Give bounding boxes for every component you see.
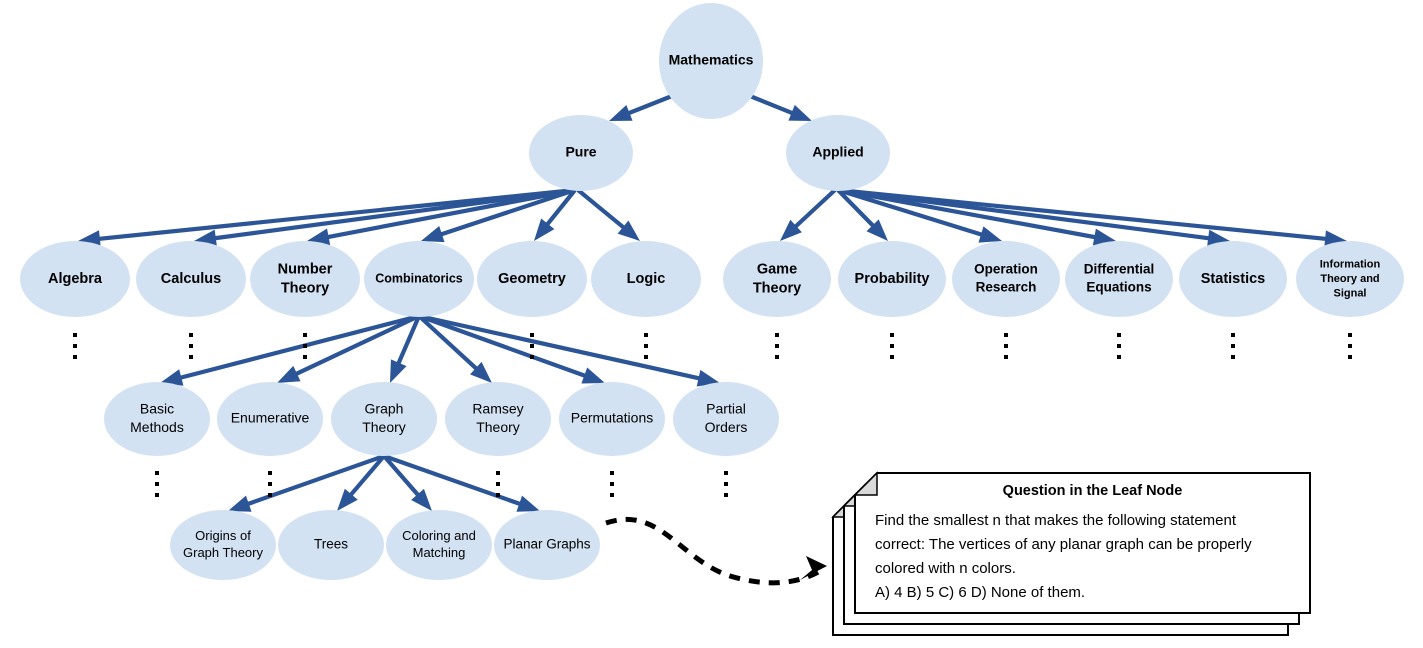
node-label: Game [757, 261, 797, 277]
ellipsis-dot [610, 471, 614, 475]
node-label: Coloring and [402, 528, 476, 543]
edge-arrowhead [978, 226, 1002, 242]
edge-arrowhead [421, 226, 445, 242]
node-statistics[interactable]: Statistics [1179, 241, 1287, 317]
node-label: Orders [705, 419, 748, 435]
ellipsis-marker-permutations [610, 471, 614, 497]
node-label: Origins of [195, 528, 251, 543]
page-fold-icon [855, 473, 877, 495]
node-partial-orders[interactable]: PartialOrders [673, 382, 779, 456]
edge-line [212, 190, 575, 239]
node-information-theory-and-signal[interactable]: InformationTheory andSignal [1296, 241, 1404, 317]
edge-arrowhead [581, 368, 605, 384]
node-label: Planar Graphs [503, 537, 590, 552]
node-trees[interactable]: Trees [278, 510, 384, 580]
node-graph-theory[interactable]: GraphTheory [331, 382, 437, 456]
node-coloring-and-matching[interactable]: Coloring andMatching [386, 510, 492, 580]
node-differential-equations[interactable]: DifferentialEquations [1065, 241, 1173, 317]
node-label: Statistics [1201, 271, 1265, 287]
node-label: Signal [1333, 287, 1366, 299]
node-label: Differential [1084, 262, 1155, 277]
question-card-layer: Question in the Leaf NodeFind the smalle… [833, 473, 1310, 635]
edge-line [578, 190, 626, 230]
ellipsis-marker-enumerative [268, 471, 272, 497]
node-label: Information [1320, 258, 1381, 270]
ellipsis-dot [189, 344, 193, 348]
node-label: Mathematics [669, 52, 754, 68]
node-origins-of-graph-theory[interactable]: Origins ofGraph Theory [170, 510, 276, 580]
ellipsis-marker-game-theory [775, 333, 779, 359]
node-label: Graph [365, 400, 404, 416]
mathematics-taxonomy-diagram: MathematicsPureAppliedAlgebraCalculusNum… [0, 0, 1423, 648]
edge-arrowhead [609, 105, 633, 121]
node-label: Probability [855, 271, 930, 287]
ellipsis-dot [1348, 333, 1352, 337]
ellipsis-marker-basic-methods [155, 471, 159, 497]
ellipsis-dot [189, 355, 193, 359]
ellipsis-dot [1348, 344, 1352, 348]
taxonomy-canvas: MathematicsPureAppliedAlgebraCalculusNum… [0, 0, 1423, 648]
ellipsis-dot [644, 355, 648, 359]
ellipsis-dot [73, 355, 77, 359]
node-label: Logic [627, 271, 666, 287]
node-label: Algebra [48, 271, 103, 287]
node-label: Applied [812, 144, 863, 160]
ellipsis-marker-ramsey-theory [496, 471, 500, 497]
dashed-arrow-path [606, 519, 822, 582]
ellipsis-dot [496, 493, 500, 497]
node-label: Trees [314, 537, 348, 552]
ellipsis-dot [303, 355, 307, 359]
node-algebra[interactable]: Algebra [20, 241, 130, 317]
node-label: Combinatorics [375, 271, 463, 285]
node-probability[interactable]: Probability [838, 241, 946, 317]
node-label: Theory [753, 280, 801, 296]
node-ellipse[interactable] [250, 241, 360, 317]
node-label: Number [278, 261, 333, 277]
ellipsis-marker-information-theory-and-signal [1348, 333, 1352, 359]
edge-line [419, 316, 702, 379]
edge-line [626, 96, 672, 114]
node-calculus[interactable]: Calculus [136, 241, 246, 317]
node-enumerative[interactable]: Enumerative [217, 382, 323, 456]
ellipsis-dot [530, 355, 534, 359]
node-combinatorics[interactable]: Combinatorics [364, 241, 474, 317]
ellipsis-marker-calculus [189, 333, 193, 359]
node-label: Theory and [1320, 273, 1379, 285]
edge-arrowhead [277, 366, 301, 383]
node-label: Operation [974, 262, 1038, 277]
edge-line [177, 316, 419, 378]
question-card-body-line: A) 4 B) 5 C) 6 D) None of them. [875, 584, 1085, 601]
node-label: Calculus [161, 271, 221, 287]
edge-line [793, 190, 835, 229]
ellipsis-dot [1004, 333, 1008, 337]
edge-root-to-applied [750, 96, 812, 121]
ellipsis-dot [189, 333, 193, 337]
question-card-front-page[interactable]: Question in the Leaf NodeFind the smalle… [855, 473, 1310, 613]
ellipsis-dot [775, 355, 779, 359]
edge-arrowhead [516, 496, 540, 512]
edge-applied-to-statistics [838, 190, 1230, 247]
ellipsis-dot [1117, 333, 1121, 337]
node-logic[interactable]: Logic [591, 241, 701, 317]
ellipsis-dot [73, 333, 77, 337]
node-ellipse[interactable] [723, 241, 831, 317]
node-label: Research [976, 279, 1037, 294]
ellipsis-dot [644, 333, 648, 337]
node-label: Theory [476, 419, 520, 435]
ellipsis-dot [268, 493, 272, 497]
ellipsis-dot [155, 471, 159, 475]
edge-applied-to-game-theory [780, 190, 835, 241]
edge-arrowhead [390, 359, 407, 383]
ellipsis-dot [530, 344, 534, 348]
node-ramsey-theory[interactable]: RamseyTheory [445, 382, 551, 456]
ellipsis-marker-algebra [73, 333, 77, 359]
node-number-theory[interactable]: NumberTheory [250, 241, 360, 317]
ellipsis-dot [155, 493, 159, 497]
node-applied[interactable]: Applied [786, 115, 890, 191]
ellipsis-dot [775, 344, 779, 348]
ellipsis-dot [644, 344, 648, 348]
ellipsis-dot [724, 493, 728, 497]
ellipsis-dot [1004, 344, 1008, 348]
ellipsis-dot [1231, 355, 1235, 359]
ellipsis-marker-geometry [530, 333, 534, 359]
node-basic-methods[interactable]: BasicMethods [104, 382, 210, 456]
ellipsis-dot [890, 333, 894, 337]
ellipsis-dot [303, 333, 307, 337]
node-label: Pure [565, 144, 596, 160]
callout-arrow-layer [606, 519, 827, 582]
ellipsis-dot [775, 333, 779, 337]
ellipsis-marker-probability [890, 333, 894, 359]
node-label: Theory [362, 419, 406, 435]
edge-arrowhead [228, 496, 252, 512]
ellipsis-dot [724, 482, 728, 486]
node-label: Ramsey [472, 400, 523, 416]
ellipsis-marker-logic [644, 333, 648, 359]
ellipsis-marker-operation-research [1004, 333, 1008, 359]
ellipsis-dot [724, 471, 728, 475]
ellipsis-dot [496, 471, 500, 475]
edge-line [750, 96, 795, 114]
node-game-theory[interactable]: GameTheory [723, 241, 831, 317]
ellipsis-dot [890, 344, 894, 348]
ellipsis-marker-differential-equations [1117, 333, 1121, 359]
question-card-body-line: Find the smallest n that makes the follo… [875, 512, 1237, 529]
node-label: Partial [706, 400, 746, 416]
ellipsis-dot [610, 493, 614, 497]
node-root[interactable]: Mathematics [659, 3, 763, 119]
node-label: Theory [281, 280, 329, 296]
ellipsis-dot [610, 482, 614, 486]
ellipsis-dot [530, 333, 534, 337]
ellipsis-dot [890, 355, 894, 359]
ellipsis-marker-partial-orders [724, 471, 728, 497]
node-label: Methods [130, 419, 184, 435]
node-label: Permutations [571, 410, 653, 426]
node-planar-graphs[interactable]: Planar Graphs [494, 510, 600, 580]
ellipsis-dot [1231, 333, 1235, 337]
node-permutations[interactable]: Permutations [559, 382, 665, 456]
node-operation-research[interactable]: OperationResearch [952, 241, 1060, 317]
edge-combinatorics-to-partial-orders [419, 316, 720, 387]
node-label: Basic [140, 400, 174, 416]
edge-pure-to-logic [578, 190, 640, 241]
node-label: Enumerative [231, 410, 310, 426]
ellipsis-dot [1004, 355, 1008, 359]
question-card-title: Question in the Leaf Node [1003, 483, 1183, 499]
callout-arrow-planar-graphs-to-question-card [606, 519, 827, 582]
edge-arrowhead [788, 105, 812, 121]
edge-root-to-pure [609, 96, 672, 121]
node-label: Equations [1086, 279, 1151, 294]
ellipsis-dot [1117, 344, 1121, 348]
node-label: Geometry [498, 271, 566, 287]
ellipsis-dot [1231, 344, 1235, 348]
ellipsis-marker-statistics [1231, 333, 1235, 359]
ellipsis-dot [303, 344, 307, 348]
node-pure[interactable]: Pure [529, 115, 633, 191]
ellipsis-dot [1117, 355, 1121, 359]
ellipsis-dot [496, 482, 500, 486]
ellipsis-dot [268, 482, 272, 486]
edge-pure-to-calculus [194, 190, 575, 247]
node-label: Matching [413, 545, 466, 560]
node-label: Graph Theory [183, 545, 263, 560]
node-geometry[interactable]: Geometry [477, 241, 587, 317]
ellipsis-marker-number-theory [303, 333, 307, 359]
ellipsis-dot [1348, 355, 1352, 359]
ellipsis-dot [73, 344, 77, 348]
question-card-body-line: colored with n colors. [875, 560, 1016, 577]
ellipsis-dot [155, 482, 159, 486]
question-card-body-line: correct: The vertices of any planar grap… [875, 536, 1252, 553]
ellipsis-dot [268, 471, 272, 475]
